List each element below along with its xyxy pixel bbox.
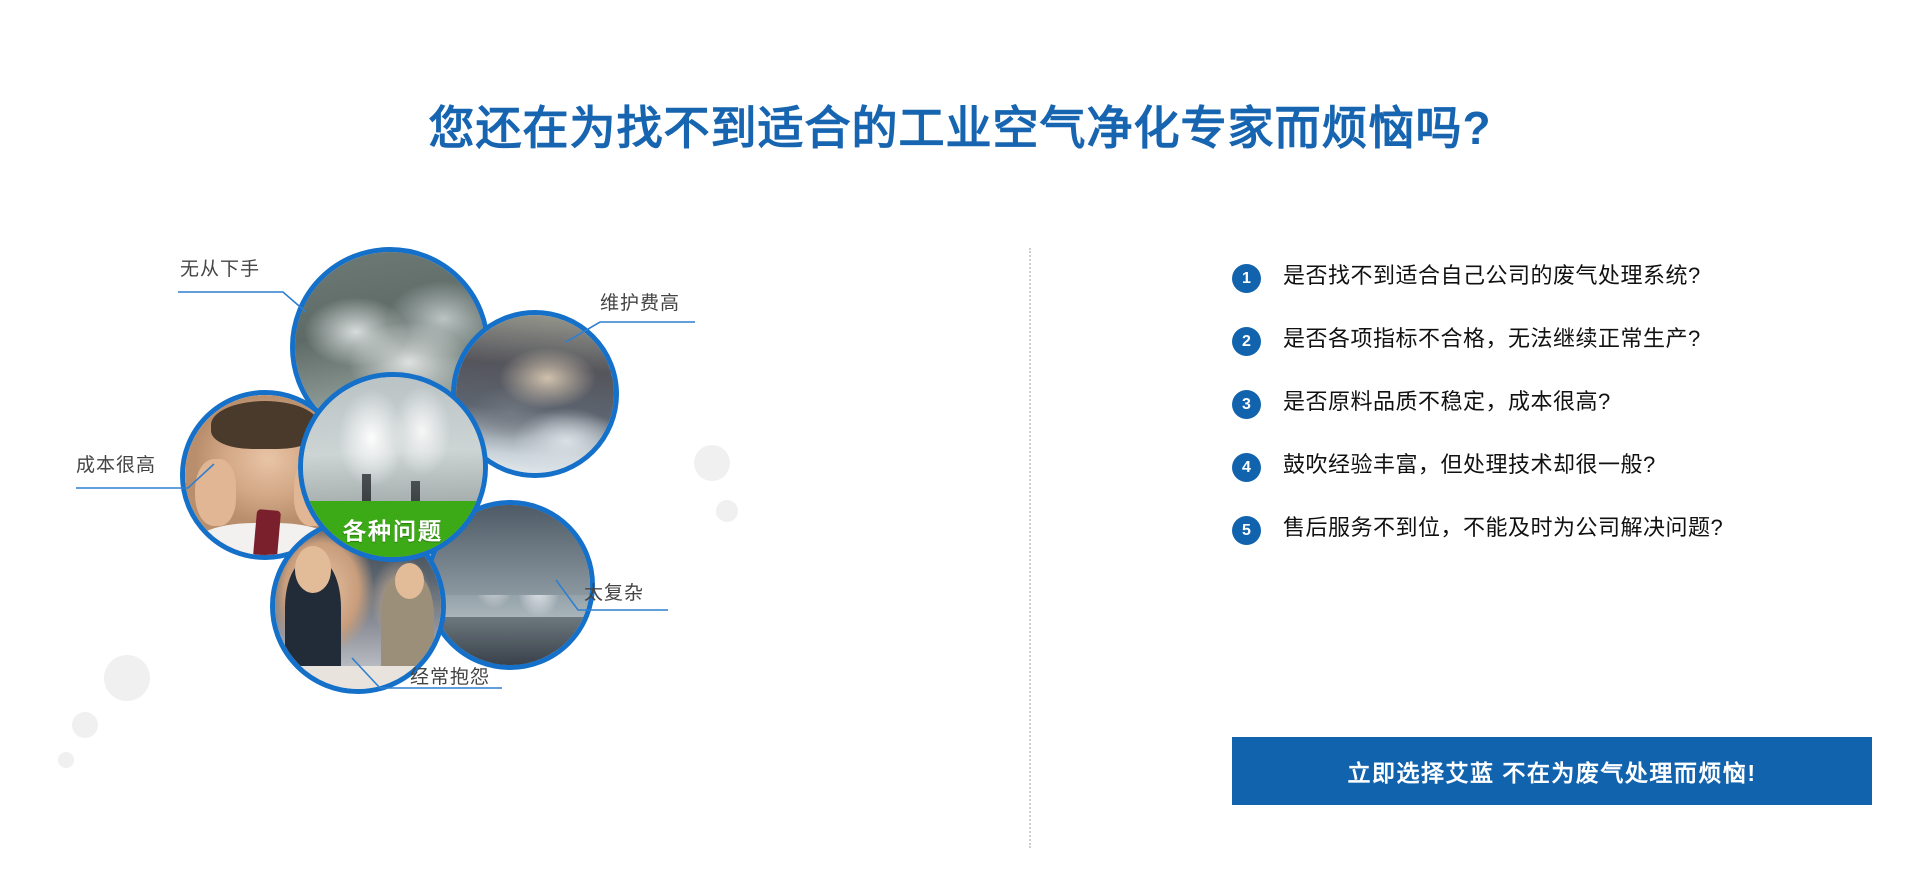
page-title: 您还在为找不到适合的工业空气净化专家而烦恼吗? — [0, 92, 1920, 158]
section-divider — [1029, 248, 1031, 848]
leader-bottom: 经常抱怨 — [352, 640, 552, 700]
leader-line-right — [556, 568, 696, 628]
leader-top-right: 维护费高 — [600, 288, 720, 342]
cta-label: 立即选择艾蓝 不在为废气处理而烦恼! — [1347, 754, 1756, 788]
cta-banner[interactable]: 立即选择艾蓝 不在为废气处理而烦恼! — [1232, 737, 1872, 805]
list-item-label: 是否原料品质不稳定，成本很高? — [1283, 388, 1611, 416]
decor-blob — [694, 445, 730, 481]
leader-line-left — [76, 450, 246, 510]
bubble-center-smokestacks: 各种问题 — [298, 372, 488, 562]
list-item: 4 鼓吹经验丰富，但处理技术却很一般? — [1232, 451, 1872, 482]
decor-blob — [58, 752, 74, 768]
leader-line-top-right — [600, 288, 740, 342]
leader-top-left: 无从下手 — [178, 252, 378, 312]
center-badge-label: 各种问题 — [343, 512, 443, 546]
leader-line-top-left — [178, 252, 378, 312]
leader-left: 成本很高 — [76, 450, 236, 510]
leader-line-bottom — [352, 640, 552, 700]
list-item-number: 3 — [1232, 390, 1261, 419]
list-item-number: 2 — [1232, 327, 1261, 356]
list-item: 1 是否找不到适合自己公司的废气处理系统? — [1232, 262, 1872, 293]
problem-list: 1 是否找不到适合自己公司的废气处理系统? 2 是否各项指标不合格，无法继续正常… — [1232, 262, 1872, 577]
list-item-label: 是否各项指标不合格，无法继续正常生产? — [1283, 325, 1701, 353]
leader-right: 太复杂 — [556, 568, 686, 628]
list-item-label: 鼓吹经验丰富，但处理技术却很一般? — [1283, 451, 1656, 479]
decor-blob — [716, 500, 738, 522]
list-item-number: 4 — [1232, 453, 1261, 482]
center-badge: 各种问题 — [303, 501, 483, 557]
decor-blob — [72, 712, 98, 738]
list-item: 2 是否各项指标不合格，无法继续正常生产? — [1232, 325, 1872, 356]
list-item: 3 是否原料品质不稳定，成本很高? — [1232, 388, 1872, 419]
list-item-number: 1 — [1232, 264, 1261, 293]
problem-infographic: 各种问题 无从下手 维护费高 成本很高 太复杂 — [0, 200, 1010, 860]
list-item: 5 售后服务不到位，不能及时为公司解决问题? — [1232, 514, 1872, 545]
list-item-label: 是否找不到适合自己公司的废气处理系统? — [1283, 262, 1701, 290]
decor-blob — [104, 655, 150, 701]
list-item-label: 售后服务不到位，不能及时为公司解决问题? — [1283, 514, 1723, 542]
page-root: 您还在为找不到适合的工业空气净化专家而烦恼吗? — [0, 0, 1920, 875]
list-item-number: 5 — [1232, 516, 1261, 545]
